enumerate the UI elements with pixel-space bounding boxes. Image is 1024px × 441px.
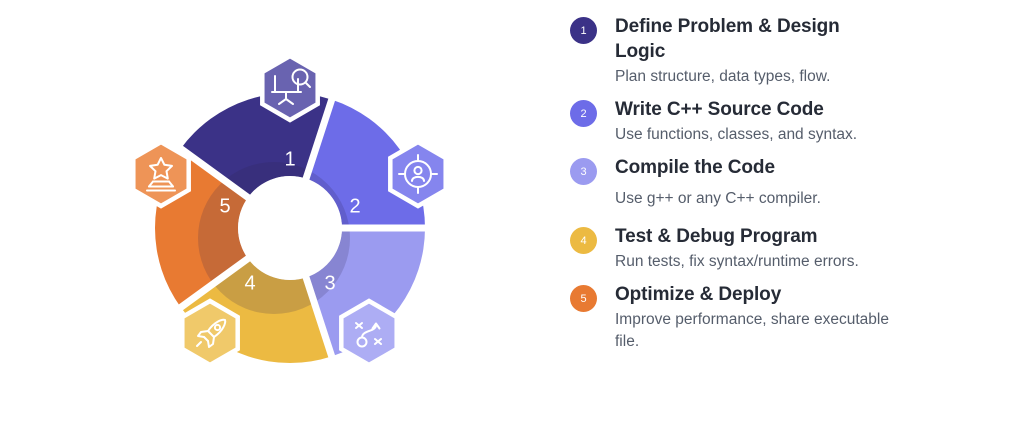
infographic-root: 1 2 3 4 5 bbox=[0, 0, 1024, 441]
hex-badge-4[interactable] bbox=[182, 301, 237, 365]
step-badge-number: 5 bbox=[580, 293, 586, 305]
step-description: Improve performance, share executable fi… bbox=[615, 309, 890, 353]
step-item-1[interactable]: 1 Define Problem & Design Logic Plan str… bbox=[570, 14, 1000, 88]
step-badge-5: 5 bbox=[570, 285, 597, 312]
step-item-4[interactable]: 4 Test & Debug Program Run tests, fix sy… bbox=[570, 224, 1000, 273]
step-title: Compile the Code bbox=[615, 155, 890, 180]
step-badge-3: 3 bbox=[570, 158, 597, 185]
step-item-3[interactable]: 3 Compile the Code Use g++ or any C++ co… bbox=[570, 155, 1000, 210]
step-badge-4: 4 bbox=[570, 227, 597, 254]
step-description: Use g++ or any C++ compiler. bbox=[615, 188, 890, 210]
wheel-label-5: 5 bbox=[219, 195, 230, 217]
step-content: Test & Debug Program Run tests, fix synt… bbox=[615, 224, 890, 273]
step-badge-number: 3 bbox=[580, 166, 586, 178]
hex-badge-1[interactable] bbox=[262, 56, 317, 120]
step-content: Compile the Code Use g++ or any C++ comp… bbox=[615, 155, 890, 210]
step-content: Write C++ Source Code Use functions, cla… bbox=[615, 97, 890, 146]
step-badge-number: 2 bbox=[580, 108, 586, 120]
step-description: Use functions, classes, and syntax. bbox=[615, 124, 890, 146]
hex-shape bbox=[341, 301, 396, 365]
step-content: Optimize & Deploy Improve performance, s… bbox=[615, 282, 890, 353]
step-title: Test & Debug Program bbox=[615, 224, 890, 249]
hex-badge-5[interactable] bbox=[133, 142, 188, 206]
wheel-label-3: 3 bbox=[324, 272, 335, 294]
wheel-center-hole bbox=[238, 176, 342, 280]
step-title: Write C++ Source Code bbox=[615, 97, 890, 122]
process-wheel-diagram: 1 2 3 4 5 bbox=[122, 60, 458, 396]
step-description: Plan structure, data types, flow. bbox=[615, 66, 890, 88]
hex-badge-2[interactable] bbox=[390, 142, 445, 206]
hex-shape bbox=[262, 56, 317, 120]
wheel-label-1: 1 bbox=[284, 148, 295, 170]
step-badge-number: 4 bbox=[580, 235, 586, 247]
wheel-label-4: 4 bbox=[244, 272, 255, 294]
step-title: Optimize & Deploy bbox=[615, 282, 890, 307]
hex-shape bbox=[133, 142, 188, 206]
step-content: Define Problem & Design Logic Plan struc… bbox=[615, 14, 890, 88]
step-item-5[interactable]: 5 Optimize & Deploy Improve performance,… bbox=[570, 282, 1000, 353]
steps-list: 1 Define Problem & Design Logic Plan str… bbox=[570, 14, 1000, 362]
step-badge-number: 1 bbox=[580, 25, 586, 37]
wheel-label-2: 2 bbox=[349, 195, 360, 217]
step-description: Run tests, fix syntax/runtime errors. bbox=[615, 251, 890, 273]
hex-badge-3[interactable] bbox=[341, 301, 396, 365]
step-item-2[interactable]: 2 Write C++ Source Code Use functions, c… bbox=[570, 97, 1000, 146]
step-badge-1: 1 bbox=[570, 17, 597, 44]
step-title: Define Problem & Design Logic bbox=[615, 14, 890, 64]
step-badge-2: 2 bbox=[570, 100, 597, 127]
